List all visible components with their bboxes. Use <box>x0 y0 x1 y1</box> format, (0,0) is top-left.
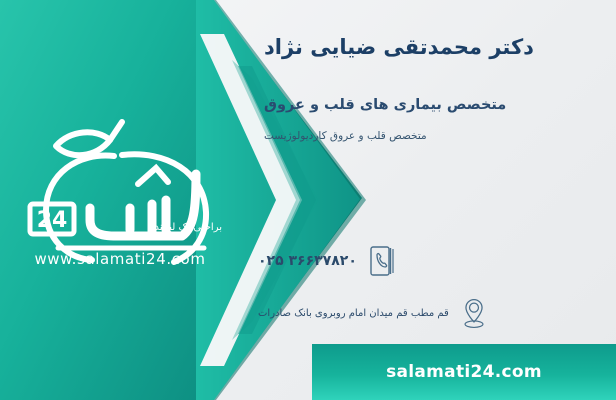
logo-url: www.salamati24.com <box>20 250 220 268</box>
phone-row[interactable]: ۳۶۶۳۷۸۲۰ ۰۲۵ <box>258 244 598 278</box>
phonebook-icon <box>367 244 397 278</box>
phone-number: ۳۶۶۳۷۸۲۰ ۰۲۵ <box>258 253 357 269</box>
clinic-address: قم مطب قم میدان امام روبروی بانک صادرات <box>258 308 449 319</box>
doctor-name: دکتر محمدتقی ضیایی نژاد <box>264 34 594 61</box>
logo-tagline: براحتی یک لبخند <box>122 222 222 233</box>
address-row[interactable]: قم مطب قم میدان امام روبروی بانک صادرات <box>258 296 598 330</box>
sub-specialty-line: متخصص قلب و عروق کاردیولوژیست <box>264 130 594 142</box>
footer-bar[interactable]: salamati24.com <box>312 344 616 400</box>
business-card: 24 براحتی یک لبخند www.salamati24.com دک… <box>0 0 616 400</box>
map-pin-icon <box>459 296 489 330</box>
card-details: دکتر محمدتقی ضیایی نژاد متخصص بیماری های… <box>264 34 594 142</box>
footer-site-url: salamati24.com <box>386 362 542 382</box>
specialty-line: متخصص بیماری های قلب و عروق <box>264 97 594 113</box>
contact-block: ۳۶۶۳۷۸۲۰ ۰۲۵ قم مطب قم میدان امام روبروی… <box>258 244 598 348</box>
